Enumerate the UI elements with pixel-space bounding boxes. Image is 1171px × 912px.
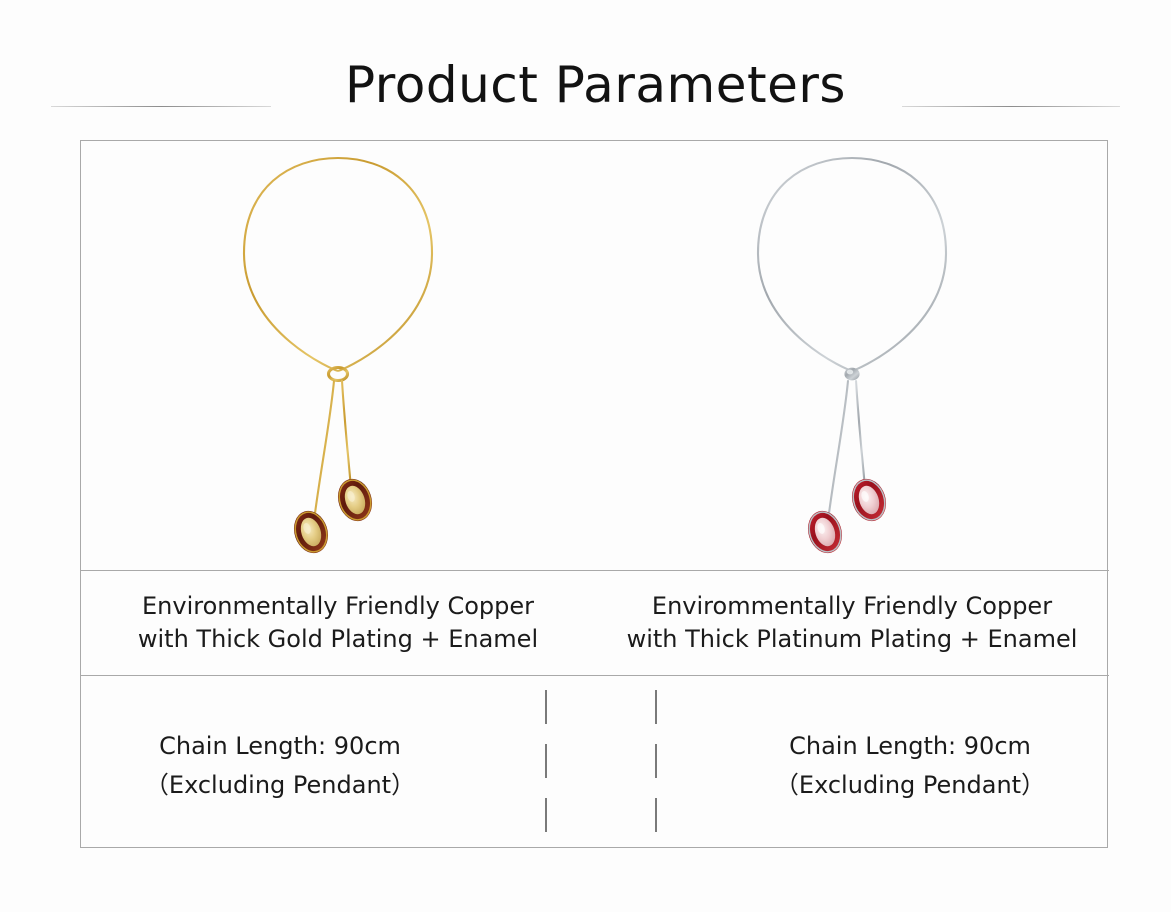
- product-illustration-row: [81, 141, 1109, 570]
- dashed-divider-left: [545, 690, 547, 834]
- product-cell-platinum: [595, 141, 1109, 570]
- dashed-divider-right: [655, 690, 657, 834]
- platinum-necklace-illustration: [722, 143, 982, 568]
- chain-length-gold-note: （Excluding Pendant）: [145, 766, 415, 805]
- material-description-row: Environmentally Friendly Copper with Thi…: [81, 571, 1109, 675]
- material-gold-line-1: Environmentally Friendly Copper: [142, 590, 534, 623]
- chain-length-cell-platinum: Chain Length: 90cm （Excluding Pendant）: [595, 676, 1109, 848]
- page-header: Product Parameters: [0, 46, 1171, 124]
- material-platinum-line-2: with Thick Platinum Plating + Enamel: [627, 623, 1078, 656]
- material-cell-gold: Environmentally Friendly Copper with Thi…: [81, 571, 595, 675]
- page-title: Product Parameters: [345, 60, 846, 110]
- title-rule-right: [902, 106, 1120, 107]
- title-rule-left: [51, 106, 271, 107]
- chain-length-platinum-note: （Excluding Pendant）: [775, 766, 1045, 805]
- material-gold-line-2: with Thick Gold Plating + Enamel: [138, 623, 538, 656]
- material-platinum-line-1: Envirommentally Friendly Copper: [652, 590, 1052, 623]
- product-cell-gold: [81, 141, 595, 570]
- gold-necklace-illustration: [208, 143, 468, 568]
- chain-length-row: Chain Length: 90cm （Excluding Pendant） C…: [81, 676, 1109, 848]
- material-cell-platinum: Envirommentally Friendly Copper with Thi…: [595, 571, 1109, 675]
- parameters-table: Environmentally Friendly Copper with Thi…: [80, 140, 1108, 848]
- page-background: Product Parameters: [0, 0, 1171, 912]
- chain-length-gold-value: Chain Length: 90cm: [159, 727, 401, 766]
- chain-length-cell-gold: Chain Length: 90cm （Excluding Pendant）: [81, 676, 595, 848]
- chain-length-platinum-value: Chain Length: 90cm: [789, 727, 1031, 766]
